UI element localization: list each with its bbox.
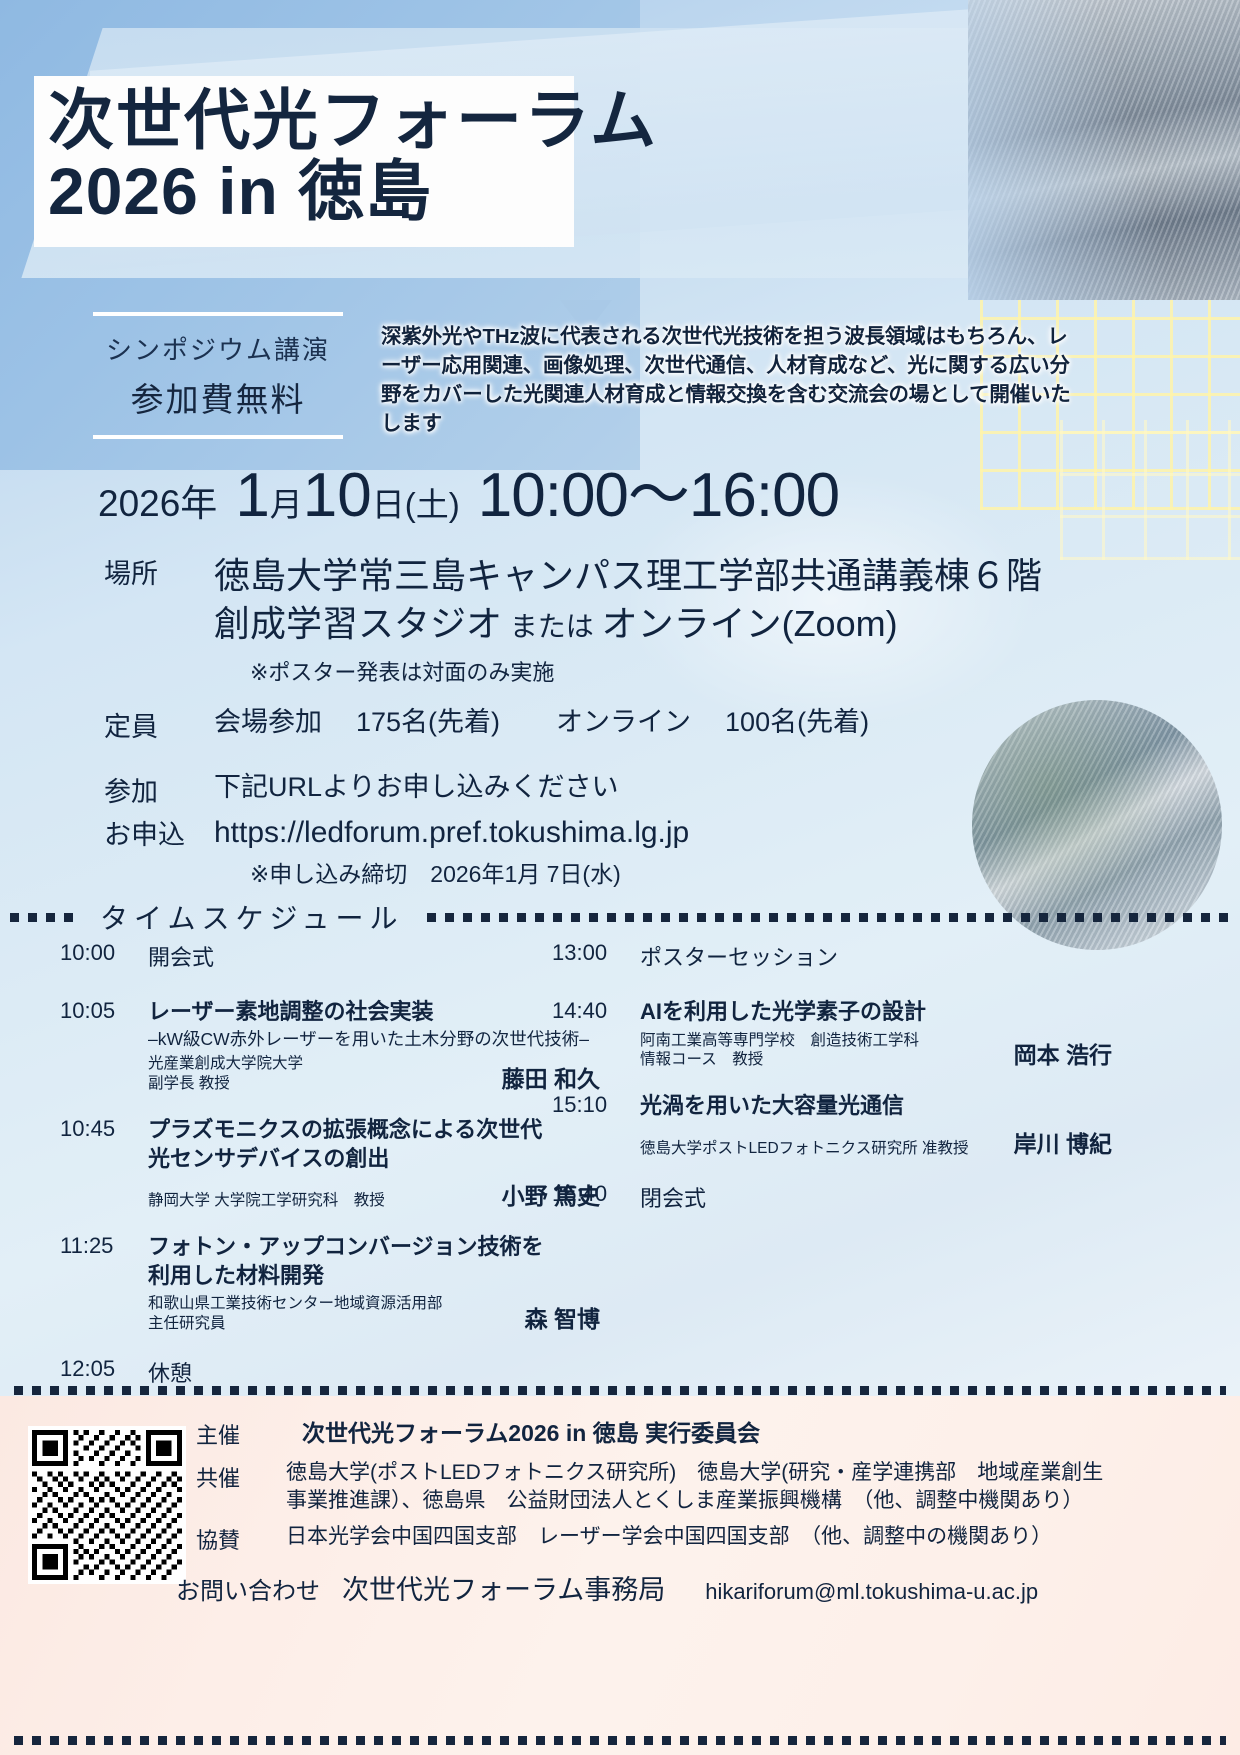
schedule-item-speaker-row: 和歌山県工業技術センター地域資源活用部 主任研究員森 智博: [148, 1294, 600, 1334]
venue-line-2: 創成学習スタジオ または オンライン(Zoom): [214, 600, 1042, 648]
badge-divider-top: [93, 312, 343, 316]
schedule-item: 15:40閉会式: [552, 1181, 1112, 1213]
schedule-item-plain-label: 開会式: [148, 940, 600, 972]
venue-label: 場所: [104, 552, 214, 647]
schedule-item-time: 13:00: [552, 940, 607, 966]
schedule-item-time: 10:05: [60, 998, 115, 1024]
venue-row: 場所 徳島大学常三島キャンパス理工学部共通講義棟６階 創成学習スタジオ または …: [104, 552, 1042, 647]
footer-support-value: 日本光学会中国四国支部 レーザー学会中国四国支部 （他、調整中の機関あり）: [280, 1523, 1052, 1555]
schedule-item-title: AIを利用した光学素子の設計: [640, 998, 1112, 1027]
schedule-item-speaker-row: 阿南工業高等専門学校 創造技術工学科 情報コース 教授岡本 浩行: [640, 1031, 1112, 1071]
event-time-range: 10:00〜16:00: [478, 465, 839, 527]
qr-code[interactable]: [28, 1426, 186, 1584]
title-block: 次世代光フォーラム 2026 in 徳島: [34, 76, 574, 247]
schedule-item: 12:05休憩: [60, 1356, 600, 1388]
title-line-2: 2026 in 徳島: [48, 155, 560, 229]
event-year: 2026年: [98, 473, 217, 527]
schedule-item-body: フォトン・アップコンバージョン技術を 利用した材料開発和歌山県工業技術センター地…: [148, 1233, 600, 1334]
footer-contact-label: お問い合わせ: [176, 1571, 320, 1606]
venue-note: ※ポスター発表は対面のみ実施: [250, 655, 554, 687]
qr-code-graphic: [32, 1430, 182, 1580]
apply-row: お申込 https://ledforum.pref.tokushima.lg.j…: [104, 813, 689, 853]
schedule-item: 11:25フォトン・アップコンバージョン技術を 利用した材料開発和歌山県工業技術…: [60, 1233, 600, 1334]
schedule-item-affiliation: 阿南工業高等専門学校 創造技術工学科 情報コース 教授: [640, 1031, 919, 1071]
schedule-item-time: 11:25: [60, 1233, 113, 1259]
capacity-online-label: オンライン: [556, 707, 691, 737]
schedule-item-plain-label: 休憩: [148, 1356, 600, 1388]
event-day-unit: 日(土): [372, 478, 460, 526]
badge-free-label: 参加費無料: [78, 373, 358, 421]
schedule-item-body: 休憩: [148, 1356, 600, 1388]
capacity-onsite-label: 会場参加: [214, 707, 322, 737]
schedule-item-speaker-row: 静岡大学 大学院工学研究科 教授小野 篤史: [148, 1177, 600, 1211]
schedule-dots-right: [427, 913, 1230, 922]
schedule-item-body: ポスターセッション: [640, 940, 1112, 972]
schedule-item-time: 15:40: [552, 1181, 607, 1207]
apply-label: お申込: [104, 813, 214, 853]
schedule-section: 10:00開会式10:05レーザー素地調整の社会実装–kW級CW赤外レーザーを用…: [0, 940, 1240, 1360]
footer-host-row: 主催 次世代光フォーラム2026 in 徳島 実行委員会: [196, 1418, 1216, 1450]
capacity-row: 定員 会場参加175名(先着)オンライン100名(先着): [104, 705, 869, 744]
footer-cohost-value: 徳島大学(ポストLEDフォトニクス研究所) 徳島大学(研究・産学連携部 地域産業…: [280, 1459, 1103, 1514]
schedule-item-plain-label: 閉会式: [640, 1181, 1112, 1213]
venue-studio: 創成学習スタジオ: [214, 603, 502, 644]
footer-contact-email[interactable]: hikariforum@ml.tokushima-u.ac.jp: [665, 1579, 1038, 1605]
schedule-item-speaker-name: 岸川 博紀: [1000, 1125, 1112, 1159]
schedule-item: 15:10光渦を用いた大容量光通信徳島大学ポストLEDフォトニクス研究所 准教授…: [552, 1092, 1112, 1159]
free-admission-badge: シンポジウム講演 参加費無料: [78, 312, 358, 439]
venue-line-1: 徳島大学常三島キャンパス理工学部共通講義棟６階: [214, 552, 1042, 600]
join-instruction: 下記URLよりお申し込みください: [214, 770, 618, 809]
venue-conjunction: または: [502, 611, 602, 642]
event-datetime: 2026年 1 月 10 日(土) 10:00〜16:00: [98, 465, 839, 527]
schedule-item-time: 10:00: [60, 940, 115, 966]
photo-lecture-hall: [968, 0, 1240, 300]
schedule-item-body: プラズモニクスの拡張概念による次世代 光センサデバイスの創出静岡大学 大学院工学…: [148, 1116, 600, 1211]
schedule-item-body: 光渦を用いた大容量光通信徳島大学ポストLEDフォトニクス研究所 准教授岸川 博紀: [640, 1092, 1112, 1159]
footer-host-label: 主催: [196, 1418, 292, 1450]
footer-section: 主催 次世代光フォーラム2026 in 徳島 実行委員会 共催 徳島大学(ポスト…: [0, 1396, 1240, 1755]
capacity-label: 定員: [104, 705, 214, 744]
schedule-item-speaker-name: 森 智博: [511, 1300, 600, 1334]
schedule-item: 10:45プラズモニクスの拡張概念による次世代 光センサデバイスの創出静岡大学 …: [60, 1116, 600, 1211]
schedule-item-speaker-name: 岡本 浩行: [1000, 1036, 1112, 1070]
footer-support-row: 協賛 日本光学会中国四国支部 レーザー学会中国四国支部 （他、調整中の機関あり）: [196, 1523, 1216, 1555]
event-month-unit: 月: [270, 478, 303, 526]
schedule-item-time: 14:40: [552, 998, 607, 1024]
schedule-item-plain-label: ポスターセッション: [640, 940, 1112, 972]
schedule-dots-left: [10, 913, 82, 922]
schedule-item: 13:00ポスターセッション: [552, 940, 1112, 972]
join-label: 参加: [104, 770, 214, 809]
footer-support-label: 協賛: [196, 1523, 280, 1555]
footer-host-value: 次世代光フォーラム2026 in 徳島 実行委員会: [292, 1418, 760, 1450]
footer-divider-dots: [14, 1386, 1226, 1395]
schedule-item-time: 12:05: [60, 1356, 115, 1382]
schedule-item-body: 閉会式: [640, 1181, 1112, 1213]
lead-paragraph: 深紫外光やTHz波に代表される次世代光技術を担う波長領域はもちろん、レーザー応用…: [381, 322, 1083, 438]
footer-contact-row: お問い合わせ 次世代光フォーラム事務局 hikariforum@ml.tokus…: [176, 1568, 1038, 1607]
capacity-values: 会場参加175名(先着)オンライン100名(先着): [214, 705, 869, 744]
schedule-item-title: プラズモニクスの拡張概念による次世代 光センサデバイスの創出: [148, 1116, 600, 1173]
event-day-number: 10: [303, 465, 372, 527]
schedule-header: タイムスケジュール: [10, 897, 1230, 937]
footer-cohost-label: 共催: [196, 1459, 280, 1514]
schedule-item-title: 光渦を用いた大容量光通信: [640, 1092, 1112, 1121]
schedule-column-right: 13:00ポスターセッション14:40AIを利用した光学素子の設計阿南工業高等専…: [552, 940, 1112, 1239]
poster-root: 次世代光フォーラム 2026 in 徳島 シンポジウム講演 参加費無料 深紫外光…: [0, 0, 1240, 1755]
schedule-item-body: AIを利用した光学素子の設計阿南工業高等専門学校 創造技術工学科 情報コース 教…: [640, 998, 1112, 1070]
background-grid-pattern-secondary: [1060, 420, 1240, 560]
schedule-item-speaker-row: 光産業創成大学院大学 副学長 教授藤田 和久: [148, 1054, 600, 1094]
schedule-item-speaker-row: 徳島大学ポストLEDフォトニクス研究所 准教授岸川 博紀: [640, 1125, 1112, 1159]
badge-divider-bottom: [93, 435, 343, 439]
join-row: 参加 下記URLよりお申し込みください: [104, 770, 618, 809]
badge-symposium-label: シンポジウム講演: [78, 330, 358, 367]
footer-cohost-row: 共催 徳島大学(ポストLEDフォトニクス研究所) 徳島大学(研究・産学連携部 地…: [196, 1459, 1216, 1514]
schedule-item-affiliation: 光産業創成大学院大学 副学長 教授: [148, 1054, 303, 1094]
event-month-number: 1: [235, 465, 269, 527]
apply-deadline: ※申し込み締切 2026年1月 7日(水): [250, 855, 621, 889]
schedule-item: 14:40AIを利用した光学素子の設計阿南工業高等専門学校 創造技術工学科 情報…: [552, 998, 1112, 1070]
schedule-item-affiliation: 和歌山県工業技術センター地域資源活用部 主任研究員: [148, 1294, 443, 1334]
schedule-item-subtitle: –kW級CW赤外レーザーを用いた土木分野の次世代技術–: [148, 1028, 600, 1051]
schedule-item-time: 10:45: [60, 1116, 115, 1142]
schedule-item: 10:05レーザー素地調整の社会実装–kW級CW赤外レーザーを用いた土木分野の次…: [60, 998, 600, 1094]
schedule-item-title: レーザー素地調整の社会実装: [148, 998, 600, 1027]
schedule-column-left: 10:00開会式10:05レーザー素地調整の社会実装–kW級CW赤外レーザーを用…: [60, 940, 600, 1414]
apply-url[interactable]: https://ledforum.pref.tokushima.lg.jp: [214, 813, 689, 853]
schedule-item-affiliation: 静岡大学 大学院工学研究科 教授: [148, 1191, 385, 1211]
capacity-online-value: 100名(先着): [725, 707, 869, 737]
schedule-heading-label: タイムスケジュール: [100, 897, 403, 937]
title-line-1: 次世代光フォーラム: [48, 86, 560, 155]
schedule-item-body: 開会式: [148, 940, 600, 972]
capacity-onsite-value: 175名(先着): [356, 707, 500, 737]
schedule-item-time: 15:10: [552, 1092, 607, 1118]
venue-online: オンライン(Zoom): [602, 603, 898, 644]
footer-organizer-rows: 主催 次世代光フォーラム2026 in 徳島 実行委員会 共催 徳島大学(ポスト…: [196, 1418, 1216, 1564]
footer-bottom-dots: [14, 1736, 1226, 1745]
schedule-item: 10:00開会式: [60, 940, 600, 972]
schedule-item-affiliation: 徳島大学ポストLEDフォトニクス研究所 准教授: [640, 1139, 969, 1159]
footer-contact-org: 次世代光フォーラム事務局: [320, 1568, 665, 1607]
schedule-item-title: フォトン・アップコンバージョン技術を 利用した材料開発: [148, 1233, 600, 1290]
schedule-item-body: レーザー素地調整の社会実装–kW級CW赤外レーザーを用いた土木分野の次世代技術–…: [148, 998, 600, 1094]
